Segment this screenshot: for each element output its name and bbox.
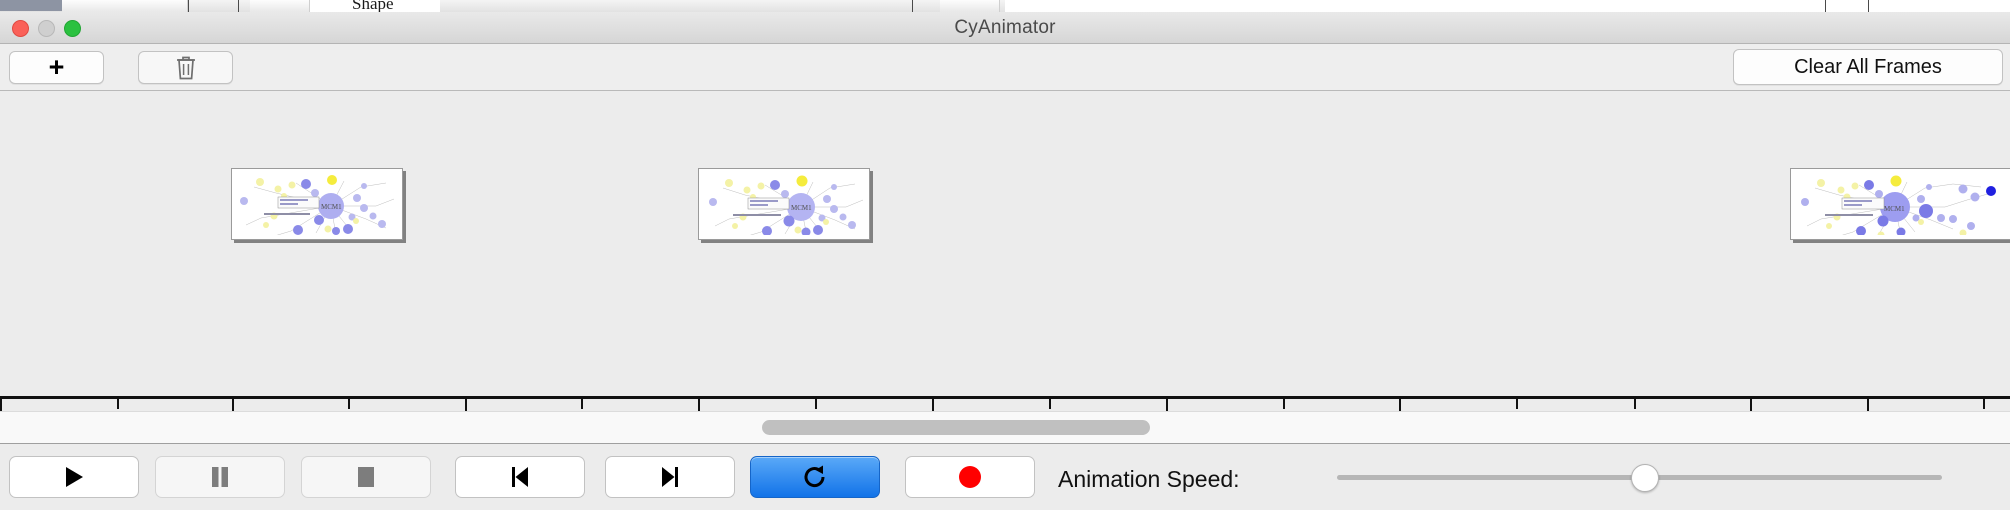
frame-thumbnail-1: MCM1 [236, 173, 398, 235]
ruler-tick-minor [1983, 399, 1985, 409]
ruler-tick-major [1867, 399, 1869, 411]
timeline-ruler [0, 396, 2010, 399]
delete-frame-button[interactable] [138, 51, 233, 84]
background-window-titlebar [0, 0, 62, 11]
minimize-button[interactable] [38, 20, 55, 37]
trash-icon [175, 55, 197, 81]
ruler-tick-major [698, 399, 700, 411]
ruler-tick-minor [1283, 399, 1285, 409]
background-seg-2 [250, 0, 310, 12]
frame-toolbar: + Clear All Frames [0, 44, 2010, 91]
record-button[interactable] [905, 456, 1035, 498]
animation-speed-label: Animation Speed: [1058, 466, 1240, 493]
window-title: CyAnimator [954, 17, 1055, 39]
stop-button[interactable] [301, 456, 431, 498]
ruler-tick-major [1399, 399, 1401, 411]
skip-next-button[interactable] [605, 456, 735, 498]
network-graph-thumbnail: MCM1 [1795, 173, 2010, 235]
skip-next-icon [659, 465, 681, 489]
horizontal-scrollbar-track[interactable] [0, 411, 2010, 444]
hub-node-label: MCM1 [321, 203, 342, 211]
clear-all-frames-button[interactable]: Clear All Frames [1733, 49, 2003, 85]
frame-thumbnail-2: MCM1 [703, 173, 865, 235]
hub-node-label: MCM1 [791, 204, 812, 212]
background-window-strip: Shape [0, 0, 2010, 12]
timeline-panel[interactable]: MCM1 [0, 91, 2010, 411]
background-seg-1 [62, 0, 188, 12]
window-titlebar: CyAnimator [0, 12, 2010, 44]
timeline-frame-3[interactable]: MCM1 [1790, 168, 2010, 240]
zoom-button[interactable] [64, 20, 81, 37]
ruler-tick-major [465, 399, 467, 411]
background-seg-3 [940, 0, 1000, 12]
network-graph-thumbnail: MCM1 [703, 173, 865, 235]
ruler-tick-major [0, 399, 2, 411]
play-icon [63, 465, 85, 489]
ruler-tick-major [1166, 399, 1168, 411]
record-icon [957, 464, 983, 490]
add-frame-button[interactable]: + [9, 51, 104, 84]
pause-icon [209, 465, 231, 489]
ruler-tick-minor [1634, 399, 1636, 409]
ruler-tick-major [232, 399, 234, 411]
plus-icon: + [49, 54, 65, 81]
ruler-tick-minor [117, 399, 119, 409]
ruler-tick-major [932, 399, 934, 411]
loop-icon [802, 464, 828, 490]
timeline-frame-1[interactable]: MCM1 [231, 168, 403, 240]
network-graph-thumbnail: MCM1 [236, 173, 398, 235]
skip-previous-button[interactable] [455, 456, 585, 498]
ruler-tick-major [1750, 399, 1752, 411]
ruler-tick-minor [581, 399, 583, 409]
ruler-tick-minor [1049, 399, 1051, 409]
ruler-tick-minor [1516, 399, 1518, 409]
pause-button[interactable] [155, 456, 285, 498]
ruler-tick-minor [348, 399, 350, 409]
stop-icon [355, 465, 377, 489]
frame-thumbnail-3: MCM1 [1795, 173, 2010, 235]
window-traffic-lights [12, 12, 81, 44]
play-button[interactable] [9, 456, 139, 498]
timeline-frame-2[interactable]: MCM1 [698, 168, 870, 240]
ruler-tick-minor [815, 399, 817, 409]
background-window-label: Shape [352, 0, 394, 12]
cyanimator-window: Shape CyAnimator + Clear All [0, 0, 2010, 510]
animation-speed-slider-thumb[interactable] [1631, 464, 1659, 492]
playback-control-bar: Animation Speed: [0, 444, 2010, 510]
skip-previous-icon [509, 465, 531, 489]
horizontal-scrollbar-thumb[interactable] [762, 420, 1150, 435]
loop-button[interactable] [750, 456, 880, 498]
hub-node-label: MCM1 [1884, 205, 1905, 213]
clear-all-frames-label: Clear All Frames [1794, 56, 1942, 79]
close-button[interactable] [12, 20, 29, 37]
